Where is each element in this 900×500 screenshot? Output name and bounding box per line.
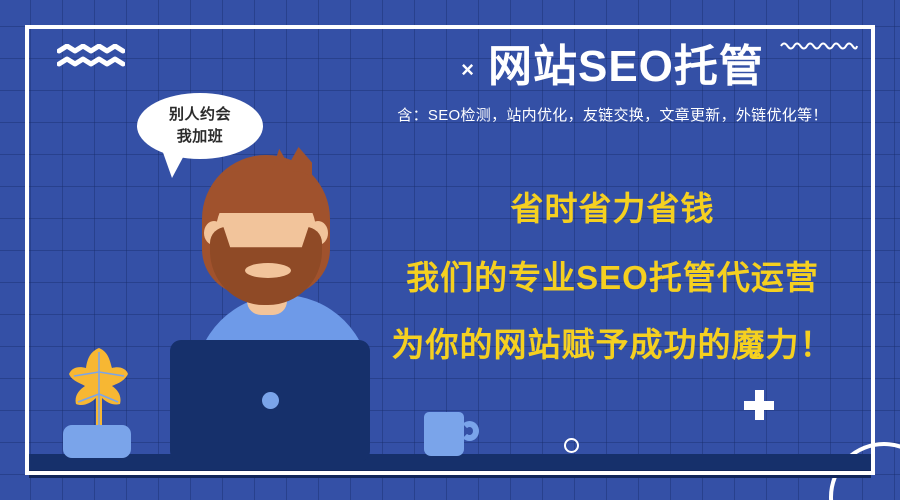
seo-promo-banner: 别人约会 我加班 × 网站SEO托管 含：SEO检测，站内优化，友链交换，文章更… xyxy=(0,0,900,500)
page-title: 网站SEO托管 xyxy=(488,44,764,90)
title-row: × 网站SEO托管 xyxy=(340,44,885,90)
speech-bubble-line-2: 我加班 xyxy=(177,126,224,148)
potted-plant-illustration xyxy=(60,346,138,432)
page-subtitle: 含：SEO检测，站内优化，友链交换，文章更新，外链优化等！ xyxy=(340,104,885,125)
plus-icon xyxy=(744,390,774,420)
speech-bubble-line-1: 别人约会 xyxy=(169,104,231,126)
person-mouth xyxy=(245,263,291,278)
person-fringe xyxy=(208,171,324,213)
slogan-line-1: 省时省力省钱 xyxy=(340,192,885,225)
coffee-mug-illustration xyxy=(424,412,464,456)
desk-front-edge xyxy=(29,470,871,478)
speech-bubble-text: 别人约会 我加班 xyxy=(137,93,263,159)
slogan-line-2: 我们的专业SEO托管代运营 xyxy=(340,261,885,294)
mug-handle xyxy=(460,421,479,441)
laptop-logo-icon xyxy=(262,392,279,409)
plant-pot xyxy=(63,425,131,458)
circle-outline-icon xyxy=(564,438,579,453)
headline-block: × 网站SEO托管 含：SEO检测，站内优化，友链交换，文章更新，外链优化等！ xyxy=(340,44,885,125)
wave-lines-icon xyxy=(57,44,125,70)
slogan-block: 省时省力省钱 我们的专业SEO托管代运营 为你的网站赋予成功的魔力！ xyxy=(340,192,885,361)
x-mark-icon: × xyxy=(461,59,474,81)
slogan-line-3: 为你的网站赋予成功的魔力！ xyxy=(340,328,885,361)
